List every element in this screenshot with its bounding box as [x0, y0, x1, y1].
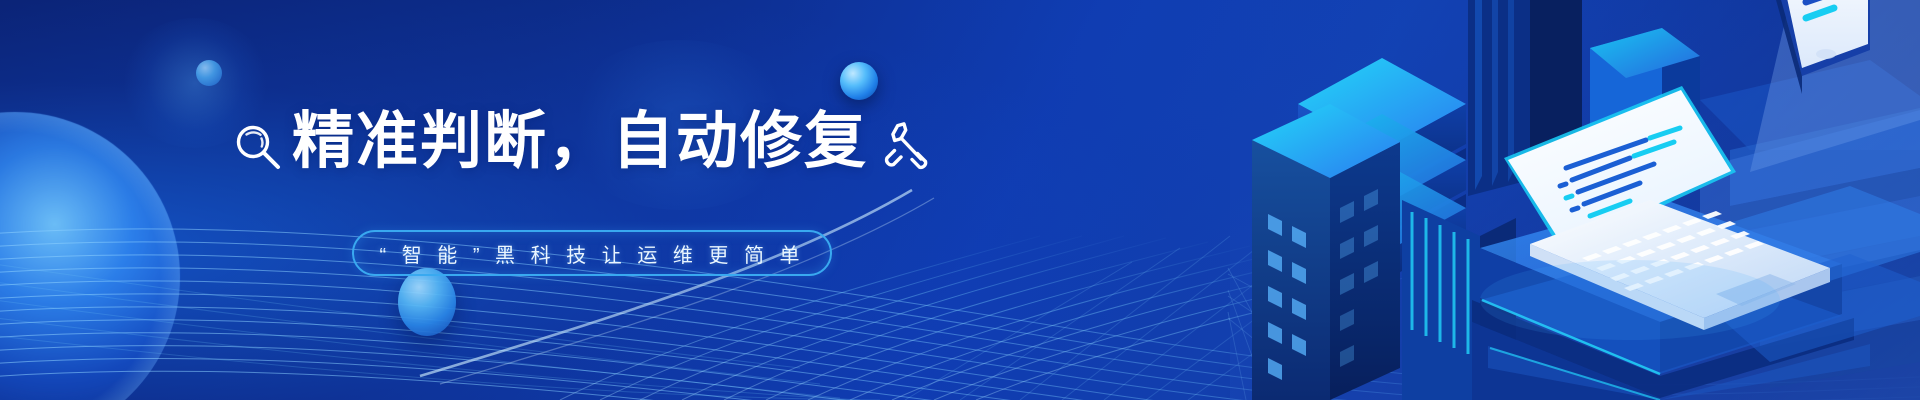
promo-banner: 精准判断，自动修复 “ 智 能 ” 黑 科 技 让 运 维 更 简 单 — [0, 0, 1920, 400]
sphere-tiny — [196, 60, 222, 86]
wrench-icon — [876, 115, 936, 175]
subtitle-pill: “ 智 能 ” 黑 科 技 让 运 维 更 简 单 — [352, 230, 832, 276]
sphere-large — [398, 268, 456, 336]
sphere-small — [840, 62, 878, 100]
subtitle-text: “ 智 能 ” 黑 科 技 让 运 维 更 简 单 — [380, 239, 805, 268]
headline-text: 精准判断，自动修复 — [292, 111, 868, 173]
tower-building — [1252, 104, 1400, 400]
globe-rim-highlight — [0, 112, 180, 400]
headline-row: 精准判断，自动修复 — [232, 100, 892, 184]
headline-block: 精准判断，自动修复 — [232, 100, 892, 184]
magnifier-icon — [232, 121, 284, 173]
isometric-illustration — [1230, 0, 1920, 400]
